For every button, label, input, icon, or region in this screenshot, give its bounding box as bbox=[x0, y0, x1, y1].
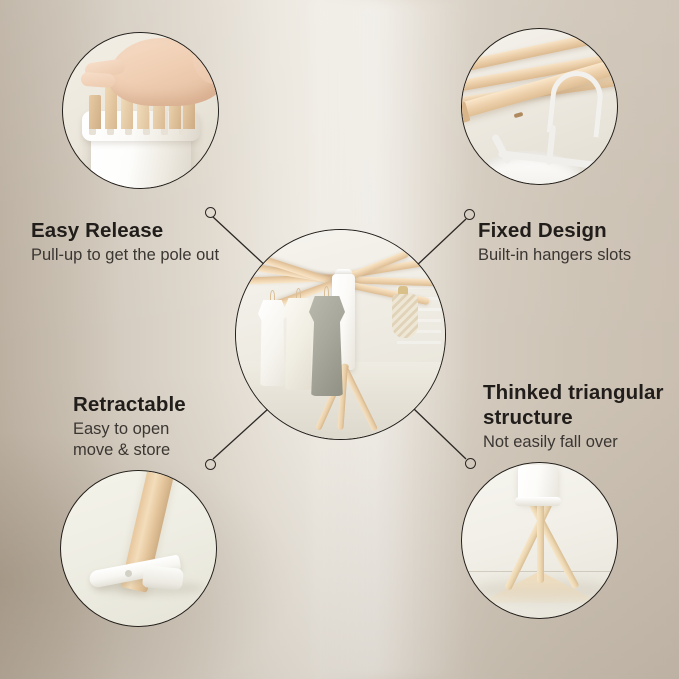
feature-label-triangular-structure: Thinked triangular structure Not easily … bbox=[483, 380, 673, 453]
feature-subtitle-line-1: Easy to open bbox=[73, 419, 186, 440]
finger-shape bbox=[81, 72, 116, 88]
feature-subtitle: Built-in hangers slots bbox=[478, 245, 631, 266]
wooden-peg bbox=[89, 95, 101, 129]
feature-title: Easy Release bbox=[31, 218, 219, 243]
garment-grey bbox=[309, 296, 345, 396]
photo-circle-triangular-structure bbox=[461, 462, 618, 619]
feature-label-fixed-design: Fixed Design Built-in hangers slots bbox=[478, 218, 631, 266]
photo-circle-fixed-design bbox=[461, 28, 618, 185]
feature-title: Retractable bbox=[73, 392, 186, 417]
tripod-leg bbox=[537, 503, 544, 583]
connector-dot-triangular[interactable] bbox=[465, 458, 476, 469]
feature-title: Fixed Design bbox=[478, 218, 631, 243]
photo-circle-easy-release bbox=[62, 32, 219, 189]
photo-circle-retractable bbox=[60, 470, 217, 627]
feature-title-line-1: Thinked triangular bbox=[483, 380, 673, 405]
connector-dot-easy-release[interactable] bbox=[205, 207, 216, 218]
peg-hanger bbox=[392, 294, 418, 338]
feature-title-line-2: structure bbox=[483, 405, 673, 430]
feature-subtitle: Not easily fall over bbox=[483, 432, 673, 453]
garment-white bbox=[258, 300, 287, 386]
foot-joint-shape bbox=[142, 565, 184, 591]
connector-dot-fixed-design[interactable] bbox=[464, 209, 475, 220]
hanger-slot bbox=[514, 112, 524, 118]
photo-circle-hero-product bbox=[235, 229, 446, 440]
feature-subtitle: Pull-up to get the pole out bbox=[31, 245, 219, 266]
infographic-canvas: Easy Release Pull-up to get the pole out… bbox=[0, 0, 679, 679]
feature-subtitle-line-2: move & store bbox=[73, 440, 186, 461]
connector-dot-retractable[interactable] bbox=[205, 459, 216, 470]
foot-screw-icon bbox=[125, 570, 132, 577]
feature-label-easy-release: Easy Release Pull-up to get the pole out bbox=[31, 218, 219, 266]
tripod-hub-rim bbox=[515, 497, 561, 506]
feature-label-retractable: Retractable Easy to open move & store bbox=[73, 392, 186, 461]
